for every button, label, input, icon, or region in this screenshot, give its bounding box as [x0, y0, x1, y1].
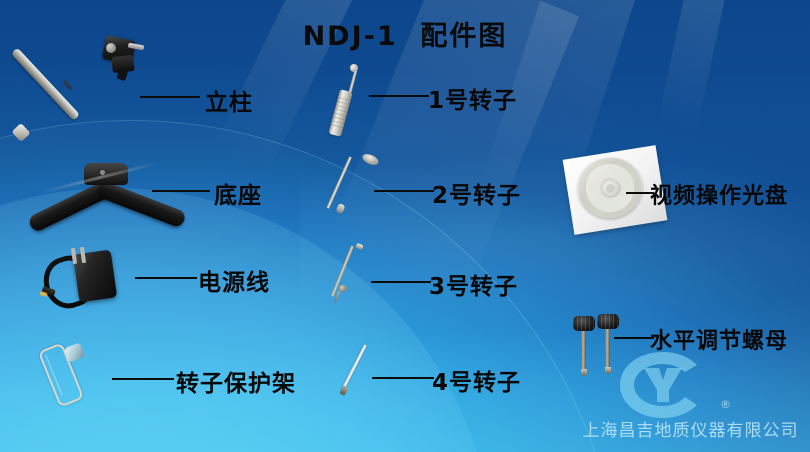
- callout-label-rotor-no3: 3号转子: [429, 267, 518, 301]
- leveling-nut-ridges: [573, 316, 595, 331]
- leader-line-rotor-no3: [371, 281, 431, 283]
- cd-hole: [606, 184, 615, 193]
- callout-label-rotor-guard: 转子保护架: [176, 364, 296, 398]
- callout-label-power-cord: 电源线: [198, 263, 270, 297]
- leveling-nut-ridges: [597, 314, 619, 329]
- column-knob: [106, 43, 116, 53]
- callout-label-rotor-no1: 1号转子: [428, 81, 517, 115]
- leader-line-rotor-no4: [372, 377, 434, 379]
- callout-label-video-cd: 视频操作光盘: [650, 178, 788, 210]
- leader-line-power-cord: [135, 277, 197, 279]
- leader-line-rotor-no1: [369, 95, 429, 97]
- leader-line-leveling-nuts: [614, 337, 654, 339]
- background-mid-glow: [300, 150, 810, 330]
- callout-label-rotor-no2: 2号转子: [432, 176, 521, 210]
- leader-line-base: [152, 190, 210, 192]
- accessories-diagram: NDJ-1 配件图 立柱 底座 电源线: [0, 0, 810, 452]
- leader-line-rotor-no2: [374, 190, 434, 192]
- callout-label-column: 立柱: [205, 83, 253, 117]
- callout-label-rotor-no4: 4号转子: [432, 363, 521, 397]
- power-adapter-body: [73, 250, 117, 303]
- callout-label-base: 底座: [214, 176, 262, 210]
- leader-line-column: [140, 96, 200, 98]
- leader-line-rotor-guard: [112, 378, 174, 380]
- watermark: ® 上海昌吉地质仪器有限公司: [573, 350, 808, 450]
- company-name: 上海昌吉地质仪器有限公司: [573, 416, 808, 441]
- company-logo-icon: [615, 350, 711, 420]
- registered-trademark-symbol: ®: [720, 398, 731, 411]
